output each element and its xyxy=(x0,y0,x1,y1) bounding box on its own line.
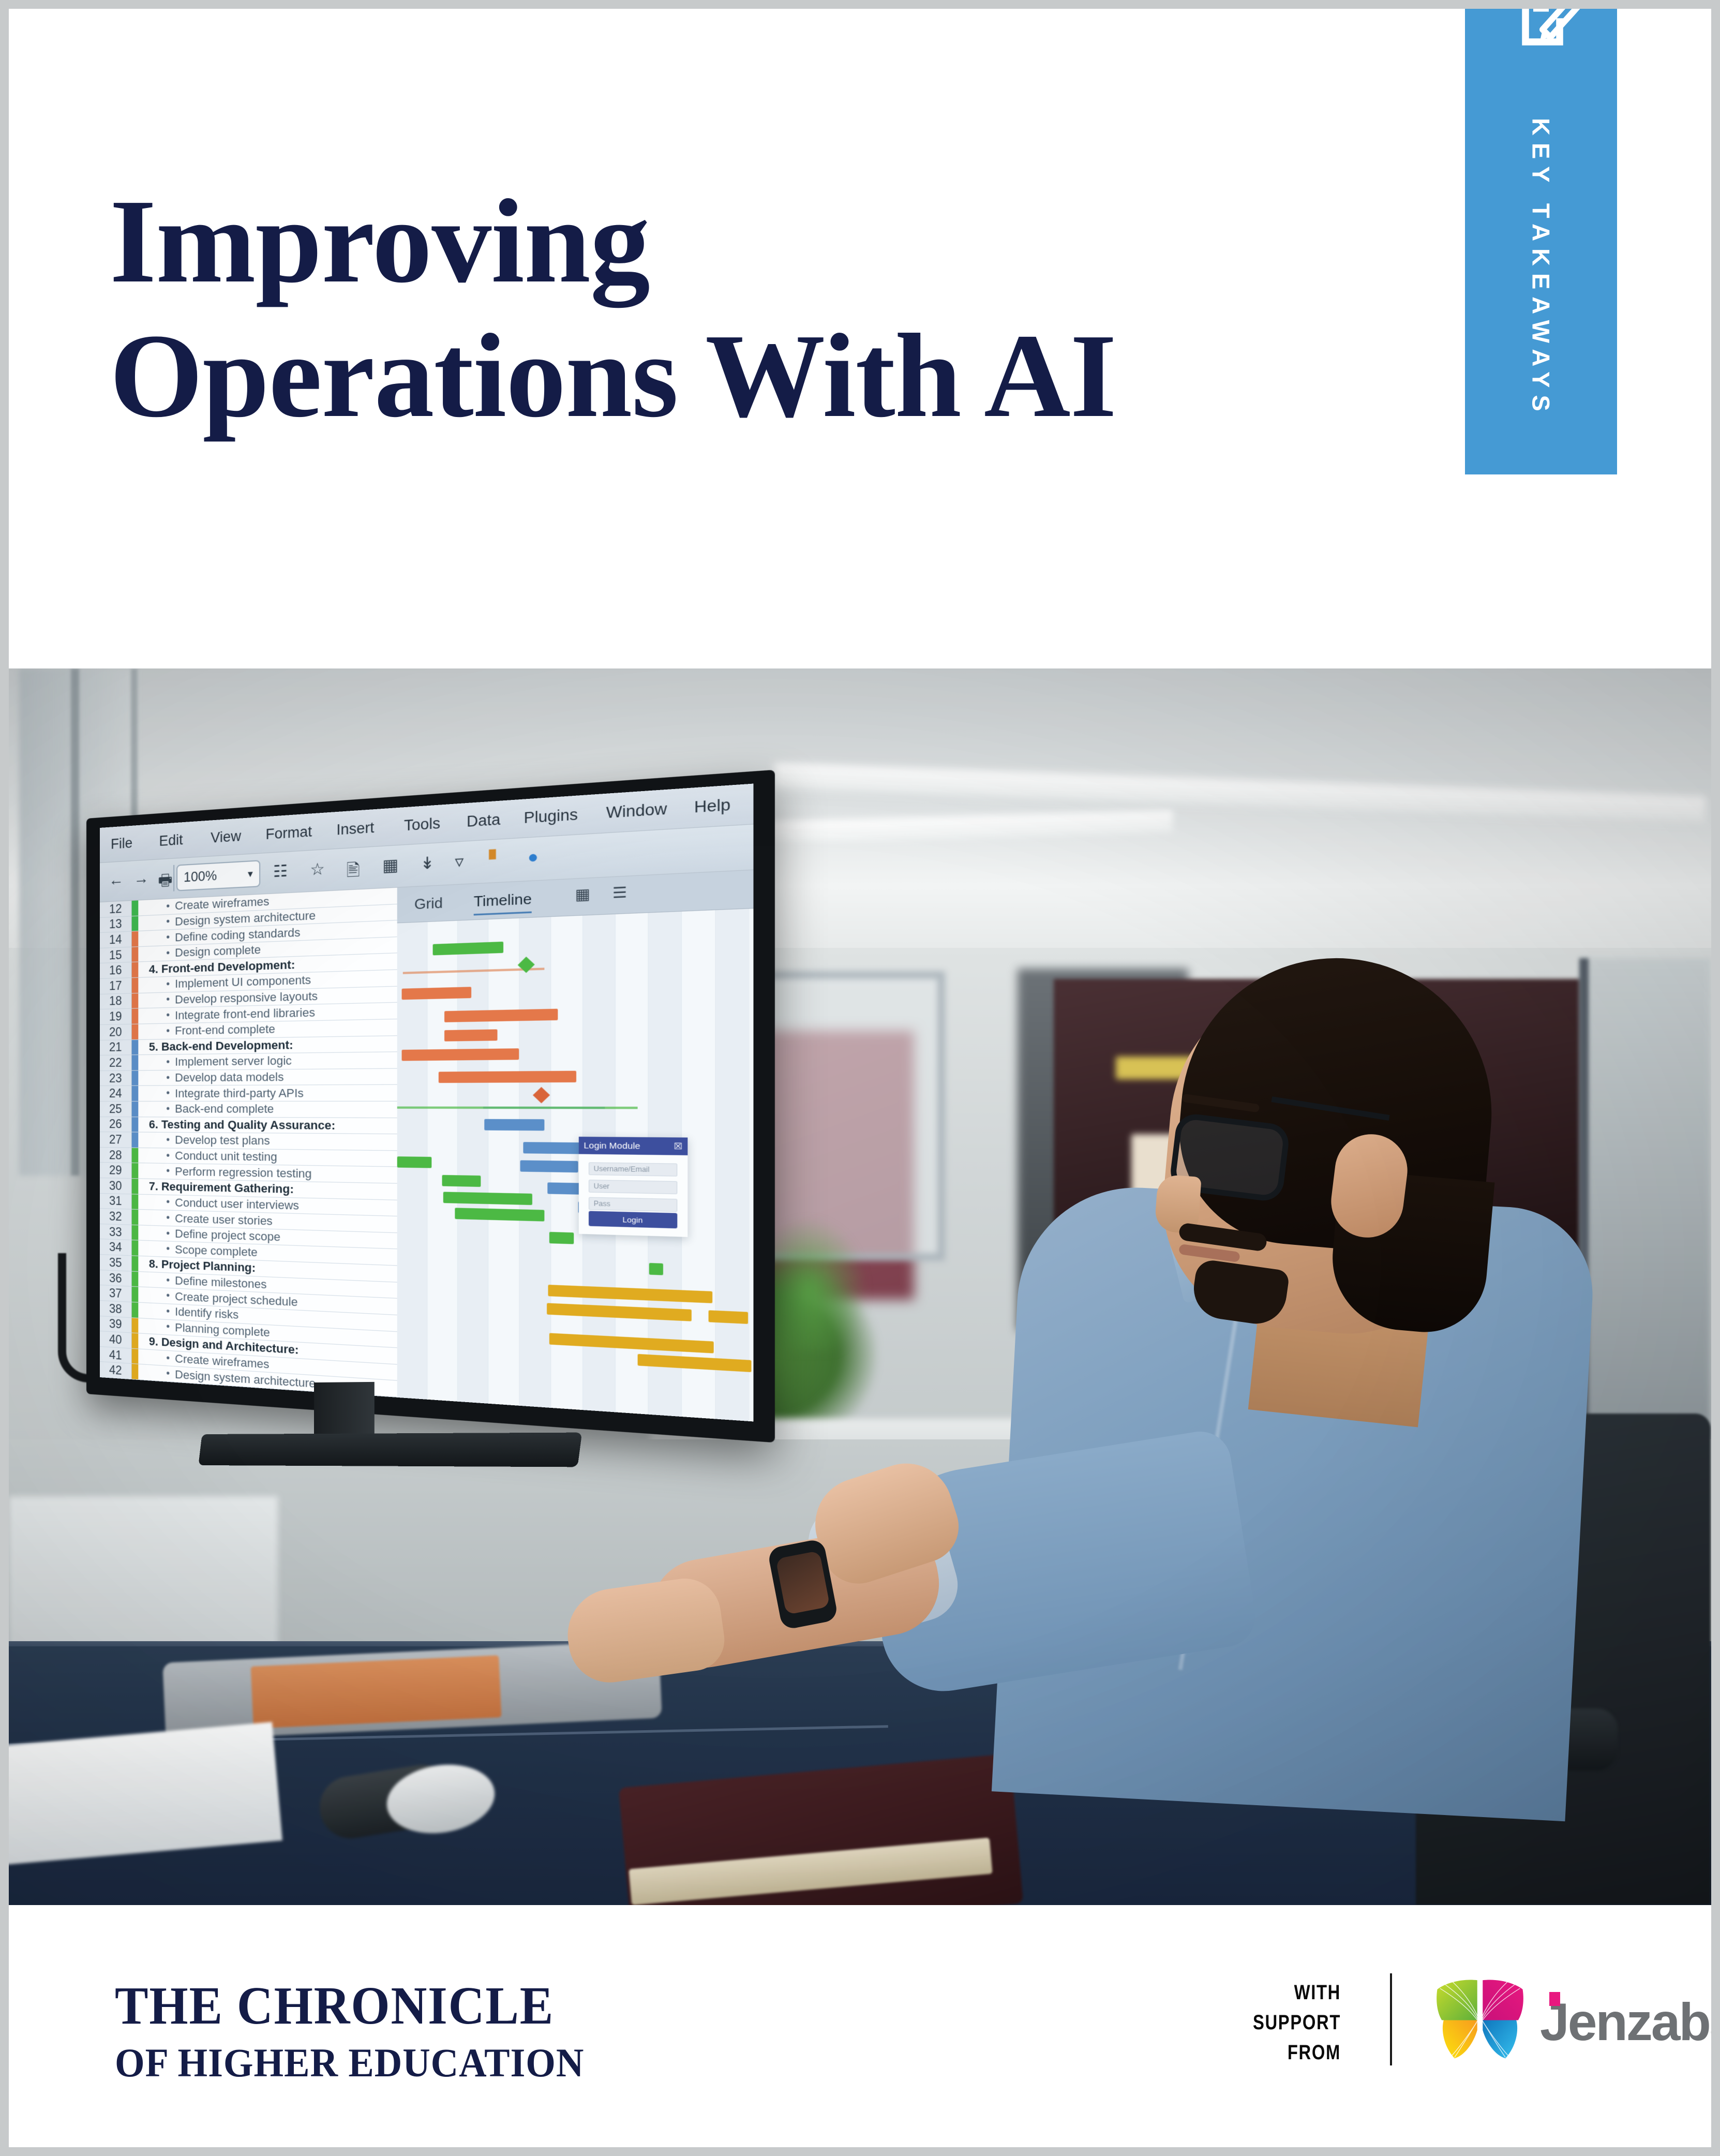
bullet-icon: • xyxy=(166,1367,170,1380)
row-number: 19 xyxy=(100,1009,132,1024)
bullet-icon: • xyxy=(166,1025,170,1037)
row-number: 13 xyxy=(100,916,132,932)
title-line-1: Improving xyxy=(110,174,1434,309)
chronicle-logo: THE CHRONICLE OF HIGHER EDUCATION xyxy=(115,1975,609,2086)
row-number: 22 xyxy=(100,1055,132,1070)
row-number: 12 xyxy=(100,901,132,917)
key-takeaways-label: KEY TAKEAWAYS xyxy=(1465,9,1617,474)
row-number: 38 xyxy=(100,1301,132,1317)
row-number: 23 xyxy=(100,1070,132,1086)
title-line-2: Operations With AI xyxy=(110,309,1434,443)
table-row[interactable]: 266. Testing and Quality Assurance: xyxy=(100,1117,397,1135)
row-number: 37 xyxy=(100,1285,132,1302)
row-color-bar xyxy=(132,1256,139,1271)
monitor-stand-base xyxy=(198,1433,582,1467)
menu-file[interactable]: File xyxy=(111,835,132,853)
row-number: 32 xyxy=(100,1209,132,1224)
gantt-bar[interactable] xyxy=(402,1048,519,1061)
task-label: •Implement server logic xyxy=(143,1053,292,1070)
pie-chart-icon[interactable]: ● xyxy=(528,847,539,868)
row-color-bar xyxy=(132,1163,139,1178)
jenzabar-wordmark: Jenzabar xyxy=(1540,1992,1711,2053)
row-color-bar xyxy=(132,1148,139,1163)
cover-photo: File Edit View Format Insert Tools Data … xyxy=(9,668,1711,1905)
bullet-icon: • xyxy=(166,1290,170,1302)
arrow-right-icon[interactable]: → xyxy=(134,870,149,888)
task-label: •Develop test plans xyxy=(143,1133,270,1149)
user-field[interactable]: User xyxy=(589,1180,677,1194)
row-number: 42 xyxy=(100,1362,132,1379)
table-row[interactable]: 23•Develop data models xyxy=(100,1068,397,1086)
row-color-bar xyxy=(132,1333,139,1349)
row-number: 39 xyxy=(100,1316,132,1333)
row-number: 27 xyxy=(100,1132,132,1147)
bullet-icon: • xyxy=(166,900,170,913)
bullet-icon: • xyxy=(166,1212,170,1224)
cover-page: KEY TAKEAWAYS Improving Operations With … xyxy=(9,9,1711,2147)
row-number: 36 xyxy=(100,1270,132,1286)
row-number: 20 xyxy=(100,1024,132,1040)
row-color-bar xyxy=(132,947,139,962)
list-view-icon[interactable]: ☰ xyxy=(612,883,627,902)
row-color-bar xyxy=(132,1287,139,1302)
row-number: 15 xyxy=(100,947,132,963)
bullet-icon: • xyxy=(166,1088,170,1099)
bullet-icon: • xyxy=(166,1352,170,1364)
leather-pad-insert xyxy=(251,1655,502,1729)
row-number: 29 xyxy=(100,1163,132,1178)
row-color-bar xyxy=(132,900,139,915)
row-color-bar xyxy=(132,1194,139,1209)
gantt-summary-line[interactable] xyxy=(397,1107,638,1109)
printer-icon[interactable]: 🖶 xyxy=(158,868,173,896)
gantt-bar[interactable] xyxy=(455,1208,544,1221)
bullet-icon: • xyxy=(166,931,170,944)
row-number: 21 xyxy=(100,1040,132,1055)
bullet-icon: • xyxy=(166,1305,170,1318)
username-field[interactable]: Username/Email xyxy=(589,1162,677,1176)
bullet-icon: • xyxy=(166,1009,170,1022)
gantt-bar[interactable] xyxy=(484,1119,544,1131)
gantt-bar[interactable] xyxy=(549,1333,714,1353)
gantt-bar[interactable] xyxy=(520,1160,578,1172)
row-number: 17 xyxy=(100,978,132,993)
menu-edit[interactable]: Edit xyxy=(159,832,183,850)
menu-format[interactable]: Format xyxy=(266,823,312,843)
page-title: Improving Operations With AI xyxy=(110,174,1434,443)
menu-plugins[interactable]: Plugins xyxy=(524,806,578,827)
bullet-icon: • xyxy=(166,1072,170,1084)
row-color-bar xyxy=(132,1225,139,1240)
bullet-icon: • xyxy=(166,1134,170,1146)
task-label: •Develop data models xyxy=(143,1069,283,1086)
jenzabar-dot xyxy=(1549,1992,1560,2006)
menu-tools[interactable]: Tools xyxy=(404,815,440,835)
gantt-bar[interactable] xyxy=(443,1192,532,1205)
task-label: 6. Testing and Quality Assurance: xyxy=(143,1117,335,1134)
tab-grid[interactable]: Grid xyxy=(414,895,443,913)
bullet-icon: • xyxy=(166,1228,170,1240)
task-label: 5. Back-end Development: xyxy=(143,1037,293,1054)
row-number: 31 xyxy=(100,1194,132,1209)
task-label: •Integrate front-end libraries xyxy=(143,1005,315,1024)
footer: THE CHRONICLE OF HIGHER EDUCATION WITH S… xyxy=(9,1905,1711,2147)
chevron-down-icon: ▾ xyxy=(248,868,253,880)
document-icon[interactable]: 🖹 xyxy=(347,857,360,886)
row-number: 14 xyxy=(100,932,132,948)
arrow-left-icon[interactable]: ← xyxy=(109,871,124,889)
row-color-bar xyxy=(132,962,139,977)
row-color-bar xyxy=(132,1024,139,1039)
monitor-screen: File Edit View Format Insert Tools Data … xyxy=(100,784,753,1422)
row-number: 18 xyxy=(100,993,132,1009)
with-support-from-label: WITH SUPPORT FROM xyxy=(1231,1977,1341,2068)
row-color-bar xyxy=(132,1133,139,1148)
gantt-bar[interactable] xyxy=(402,987,472,1000)
footer-divider xyxy=(1390,1973,1392,2065)
window-mullion xyxy=(71,668,79,1176)
row-color-bar xyxy=(132,1318,139,1333)
login-button[interactable]: Login xyxy=(589,1211,677,1229)
bullet-icon: • xyxy=(166,1321,170,1333)
qr-search-icon[interactable]: ☷ xyxy=(273,861,288,881)
row-number: 40 xyxy=(100,1331,132,1348)
task-label: •Conduct unit testing xyxy=(143,1148,277,1165)
row-color-bar xyxy=(132,1210,139,1225)
row-number: 24 xyxy=(100,1086,132,1101)
gantt-bar[interactable] xyxy=(397,1156,432,1168)
zoom-select[interactable]: 100% ▾ xyxy=(176,860,260,891)
row-color-bar xyxy=(132,993,139,1008)
menu-view[interactable]: View xyxy=(211,828,241,846)
table-row[interactable]: 22•Implement server logic xyxy=(100,1052,397,1070)
bullet-icon: • xyxy=(166,978,170,991)
bullet-icon: • xyxy=(166,916,170,928)
task-label: •Front-end complete xyxy=(143,1021,275,1039)
password-field[interactable]: Pass xyxy=(589,1197,677,1212)
menu-data[interactable]: Data xyxy=(467,811,500,830)
menu-help[interactable]: Help xyxy=(694,796,730,816)
row-color-bar xyxy=(132,1070,139,1086)
gantt-bar[interactable] xyxy=(548,1285,712,1303)
row-color-bar xyxy=(132,1102,139,1117)
gantt-bar[interactable] xyxy=(549,1232,574,1244)
row-number: 35 xyxy=(100,1255,132,1271)
row-color-bar xyxy=(132,1348,139,1364)
filter-icon[interactable]: ▿ xyxy=(455,852,463,872)
bullet-icon: • xyxy=(166,947,170,960)
row-color-bar xyxy=(132,1086,139,1101)
row-number: 41 xyxy=(100,1347,132,1364)
gantt-timeline: Login Module ☒ Username/Email User Pass … xyxy=(397,909,754,1421)
row-color-bar xyxy=(132,1241,139,1256)
grid-view-icon[interactable]: ▦ xyxy=(575,885,590,904)
task-grid: 12•Create wireframes13•Design system arc… xyxy=(100,888,397,1397)
task-label: •Perform regression testing xyxy=(143,1164,311,1182)
task-label: •Back-end complete xyxy=(143,1102,274,1117)
chronicle-line-2: OF HIGHER EDUCATION xyxy=(115,2040,584,2086)
row-color-bar xyxy=(132,1055,139,1070)
gantt-bar[interactable] xyxy=(709,1310,749,1324)
bullet-icon: • xyxy=(166,1274,170,1287)
row-color-bar xyxy=(132,1179,139,1194)
row-color-bar xyxy=(132,1117,139,1132)
table-row[interactable]: 25•Back-end complete xyxy=(100,1102,397,1118)
task-label: •Integrate third-party APIs xyxy=(143,1086,304,1101)
gantt-bar[interactable] xyxy=(442,1175,481,1187)
menu-insert[interactable]: Insert xyxy=(336,819,374,839)
table-row[interactable]: 24•Integrate third-party APIs xyxy=(100,1085,397,1102)
bullet-icon: • xyxy=(166,994,170,1006)
row-number: 28 xyxy=(100,1148,132,1163)
window-right xyxy=(1581,958,1711,1439)
row-color-bar xyxy=(132,931,139,946)
bullet-icon: • xyxy=(166,1196,170,1209)
row-number: 16 xyxy=(100,962,132,978)
row-color-bar xyxy=(132,1009,139,1024)
row-color-bar xyxy=(132,1039,139,1054)
toolbar-divider xyxy=(173,865,174,891)
download-icon[interactable]: ↡ xyxy=(420,853,435,873)
butterfly-icon xyxy=(1434,1977,1526,2063)
bullet-icon: • xyxy=(166,1165,170,1178)
bullet-icon: • xyxy=(166,1103,170,1115)
login-dialog-title: Login Module xyxy=(584,1140,640,1151)
login-dialog-titlebar: Login Module ☒ xyxy=(579,1137,688,1155)
bullet-icon: • xyxy=(166,1056,170,1068)
row-number: 26 xyxy=(100,1117,132,1132)
gantt-bar[interactable] xyxy=(433,942,504,956)
chronicle-line-1: THE CHRONICLE xyxy=(115,1975,574,2036)
row-number: 34 xyxy=(100,1239,132,1255)
star-icon[interactable]: ☆ xyxy=(310,859,325,879)
menu-window[interactable]: Window xyxy=(606,800,667,822)
row-number: 33 xyxy=(100,1224,132,1240)
bar-chart-icon[interactable]: ▘ xyxy=(489,850,503,870)
key-takeaways-tab: KEY TAKEAWAYS xyxy=(1465,9,1617,474)
close-icon[interactable]: ☒ xyxy=(674,1141,683,1152)
gantt-bar[interactable] xyxy=(649,1263,663,1275)
tab-timeline[interactable]: Timeline xyxy=(474,890,532,916)
login-dialog: Login Module ☒ Username/Email User Pass … xyxy=(579,1137,688,1237)
bullet-icon: • xyxy=(166,1150,170,1162)
gantt-bar[interactable] xyxy=(439,1071,576,1083)
row-color-bar xyxy=(132,1364,139,1379)
table-icon[interactable]: ▦ xyxy=(382,855,398,875)
row-color-bar xyxy=(132,1302,139,1317)
row-color-bar xyxy=(132,1271,139,1286)
gantt-bar[interactable] xyxy=(444,1029,498,1041)
row-color-bar xyxy=(132,916,139,931)
row-color-bar xyxy=(132,978,139,993)
bullet-icon: • xyxy=(166,1243,170,1256)
gantt-bar[interactable] xyxy=(444,1009,558,1022)
row-number: 25 xyxy=(100,1102,132,1117)
zoom-value: 100% xyxy=(184,868,217,885)
row-number: 30 xyxy=(100,1178,132,1194)
